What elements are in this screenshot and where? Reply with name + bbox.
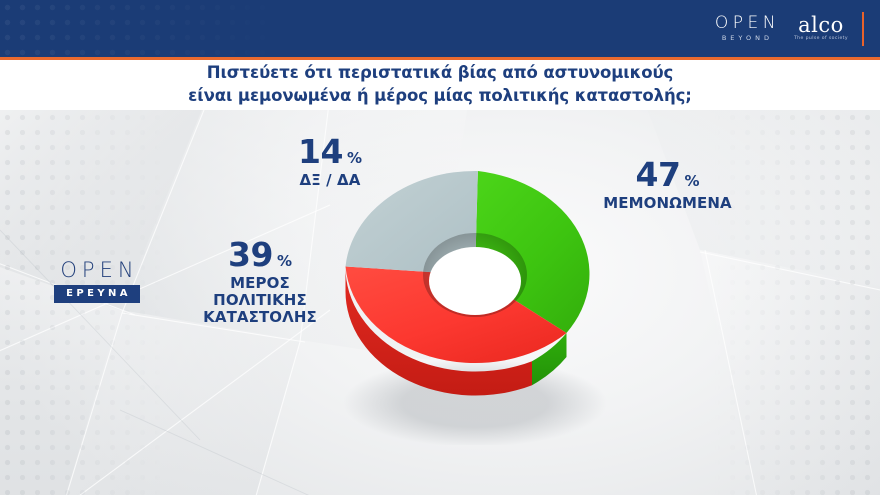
open-beyond-logo: OPEN BEYOND bbox=[711, 15, 780, 42]
open-beyond-logo-primary: OPEN bbox=[711, 15, 780, 32]
header-dot-pattern bbox=[0, 0, 300, 57]
alco-logo: alco The pulse of society bbox=[794, 15, 848, 42]
page-title: Πιστεύετε ότι περιστατικά βίας από αστυν… bbox=[188, 62, 692, 108]
callout-repression-value: 39 bbox=[228, 238, 273, 271]
page-title-line-2: είναι μεμονωμένα ή μέρος μίας πολιτικής … bbox=[188, 85, 692, 108]
alco-logo-tagline: The pulse of society bbox=[794, 37, 848, 42]
callout-repression-label-line-2: ΠΟΛΙΤΙΚΗΣ bbox=[155, 292, 365, 309]
callout-isolated-label: ΜΕΜΟΝΩΜΕΝΑ bbox=[560, 195, 775, 212]
callout-dont-know-value: 14 bbox=[298, 135, 343, 168]
callout-repression-value-row: 39 % bbox=[155, 238, 365, 271]
open-ereyna-wordmark: OPEN bbox=[55, 260, 138, 281]
callout-repression-label: ΜΕΡΟΣ ΠΟΛΙΤΙΚΗΣ ΚΑΤΑΣΤΟΛΗΣ bbox=[155, 275, 365, 325]
open-ereyna-logo: OPEN ΕΡΕΥΝΑ bbox=[44, 260, 150, 303]
callout-isolated: 47 % ΜΕΜΟΝΩΜΕΝΑ bbox=[560, 158, 775, 212]
open-ereyna-badge: ΕΡΕΥΝΑ bbox=[54, 285, 140, 303]
callout-isolated-percent-sign: % bbox=[684, 174, 699, 189]
chart-stage: OPEN ΕΡΕΥΝΑ bbox=[0, 110, 880, 495]
logo-divider bbox=[862, 12, 864, 46]
callout-dont-know-value-row: 14 % bbox=[250, 135, 410, 168]
callout-repression-label-line-3: ΚΑΤΑΣΤΟΛΗΣ bbox=[155, 309, 365, 326]
callout-isolated-value: 47 bbox=[636, 158, 681, 191]
header-logo-group: OPEN BEYOND alco The pulse of society bbox=[711, 0, 864, 57]
callout-dont-know-label: ΔΞ / ΔΑ bbox=[250, 172, 410, 189]
callout-dont-know: 14 % ΔΞ / ΔΑ bbox=[250, 135, 410, 189]
page-title-line-1: Πιστεύετε ότι περιστατικά βίας από αστυν… bbox=[188, 62, 692, 85]
callout-dont-know-percent-sign: % bbox=[347, 151, 362, 166]
callout-repression-label-line-1: ΜΕΡΟΣ bbox=[155, 275, 365, 292]
app-header: OPEN BEYOND alco The pulse of society bbox=[0, 0, 880, 57]
callout-isolated-value-row: 47 % bbox=[560, 158, 775, 191]
callout-repression: 39 % ΜΕΡΟΣ ΠΟΛΙΤΙΚΗΣ ΚΑΤΑΣΤΟΛΗΣ bbox=[155, 238, 365, 325]
callout-repression-percent-sign: % bbox=[277, 254, 292, 269]
open-beyond-logo-secondary: BEYOND bbox=[718, 35, 773, 42]
title-band: Πιστεύετε ότι περιστατικά βίας από αστυν… bbox=[0, 60, 880, 110]
alco-logo-primary: alco bbox=[798, 15, 844, 36]
